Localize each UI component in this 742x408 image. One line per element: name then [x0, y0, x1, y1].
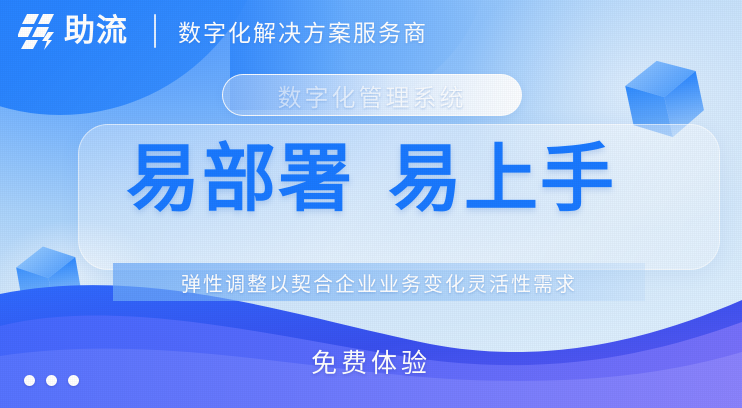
subtitle-text: 弹性调整以契合企业业务变化灵活性需求 [181, 268, 577, 297]
header-divider [154, 14, 156, 48]
brand-logo[interactable]: 助流 [18, 12, 128, 50]
brand-name: 助流 [64, 15, 128, 48]
banner-header: 助流 数字化解决方案服务商 [0, 0, 428, 62]
carousel-dot-2[interactable] [46, 375, 57, 386]
promo-banner: 助流 数字化解决方案服务商 数字化管理系统 易部署易上手 弹性调整以契合企业业务… [0, 0, 742, 408]
page-title: 易部署易上手 [0, 142, 742, 216]
carousel-dot-3[interactable] [68, 375, 79, 386]
carousel-dots[interactable] [24, 375, 79, 386]
subtitle-bar: 弹性调整以契合企业业务变化灵活性需求 [113, 263, 645, 301]
flow-bolt-logo-icon [18, 12, 58, 50]
cta-free-trial[interactable]: 免费体验 [0, 343, 742, 380]
system-badge-label: 数字化管理系统 [278, 78, 467, 113]
brand-tagline: 数字化解决方案服务商 [178, 14, 428, 48]
system-badge: 数字化管理系统 [222, 74, 522, 116]
cta-label: 免费体验 [311, 348, 431, 378]
carousel-dot-1[interactable] [24, 375, 35, 386]
headline-part-2: 易上手 [388, 137, 616, 220]
headline-part-1: 易部署 [126, 137, 354, 220]
